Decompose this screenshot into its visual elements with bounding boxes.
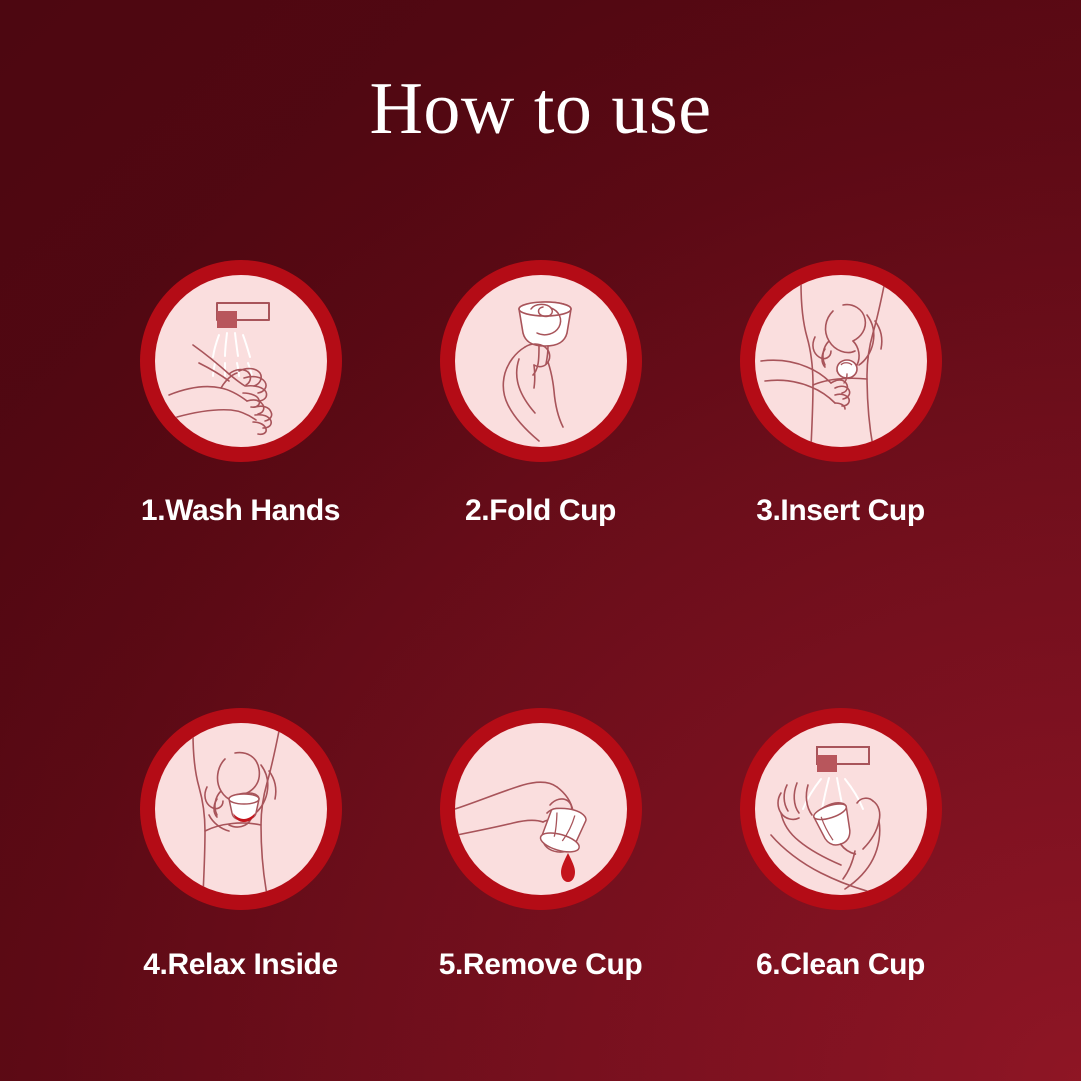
step-remove-cup[interactable]: 5.Remove Cup: [391, 708, 691, 982]
step-4-label: 4.Relax Inside: [143, 948, 338, 982]
step-clean-cup[interactable]: 6.Clean Cup: [691, 708, 991, 982]
hands-washing-under-faucet-icon: [155, 275, 327, 447]
inserting-cup-anatomy-icon: [755, 275, 927, 447]
steps-row-bottom: 4.Relax Inside: [0, 708, 1081, 982]
step-5-circle: [440, 708, 642, 910]
step-4-circle: [140, 708, 342, 910]
step-1-label: 1.Wash Hands: [141, 494, 340, 528]
step-3-circle: [740, 260, 942, 462]
step-6-label: 6.Clean Cup: [756, 948, 925, 982]
step-3-label: 3.Insert Cup: [756, 494, 925, 528]
step-6-circle: [740, 708, 942, 910]
step-relax-inside[interactable]: 4.Relax Inside: [91, 708, 391, 982]
step-wash-hands[interactable]: 1.Wash Hands: [91, 260, 391, 528]
steps-row-top: 1.Wash Hands: [0, 260, 1081, 528]
page-title: How to use: [0, 72, 1081, 146]
hand-holding-folded-cup-icon: [455, 275, 627, 447]
poster-canvas: How to use: [0, 0, 1081, 1081]
hands-rinsing-cup-under-faucet-icon: [755, 723, 927, 895]
step-2-label: 2.Fold Cup: [465, 494, 616, 528]
steps-grid: 1.Wash Hands: [0, 260, 1081, 982]
cup-seated-inside-anatomy-icon: [155, 723, 327, 895]
step-2-circle: [440, 260, 642, 462]
step-1-circle: [140, 260, 342, 462]
hand-removing-cup-with-drop-icon: [455, 723, 627, 895]
step-5-label: 5.Remove Cup: [439, 948, 643, 982]
step-fold-cup[interactable]: 2.Fold Cup: [391, 260, 691, 528]
step-insert-cup[interactable]: 3.Insert Cup: [691, 260, 991, 528]
